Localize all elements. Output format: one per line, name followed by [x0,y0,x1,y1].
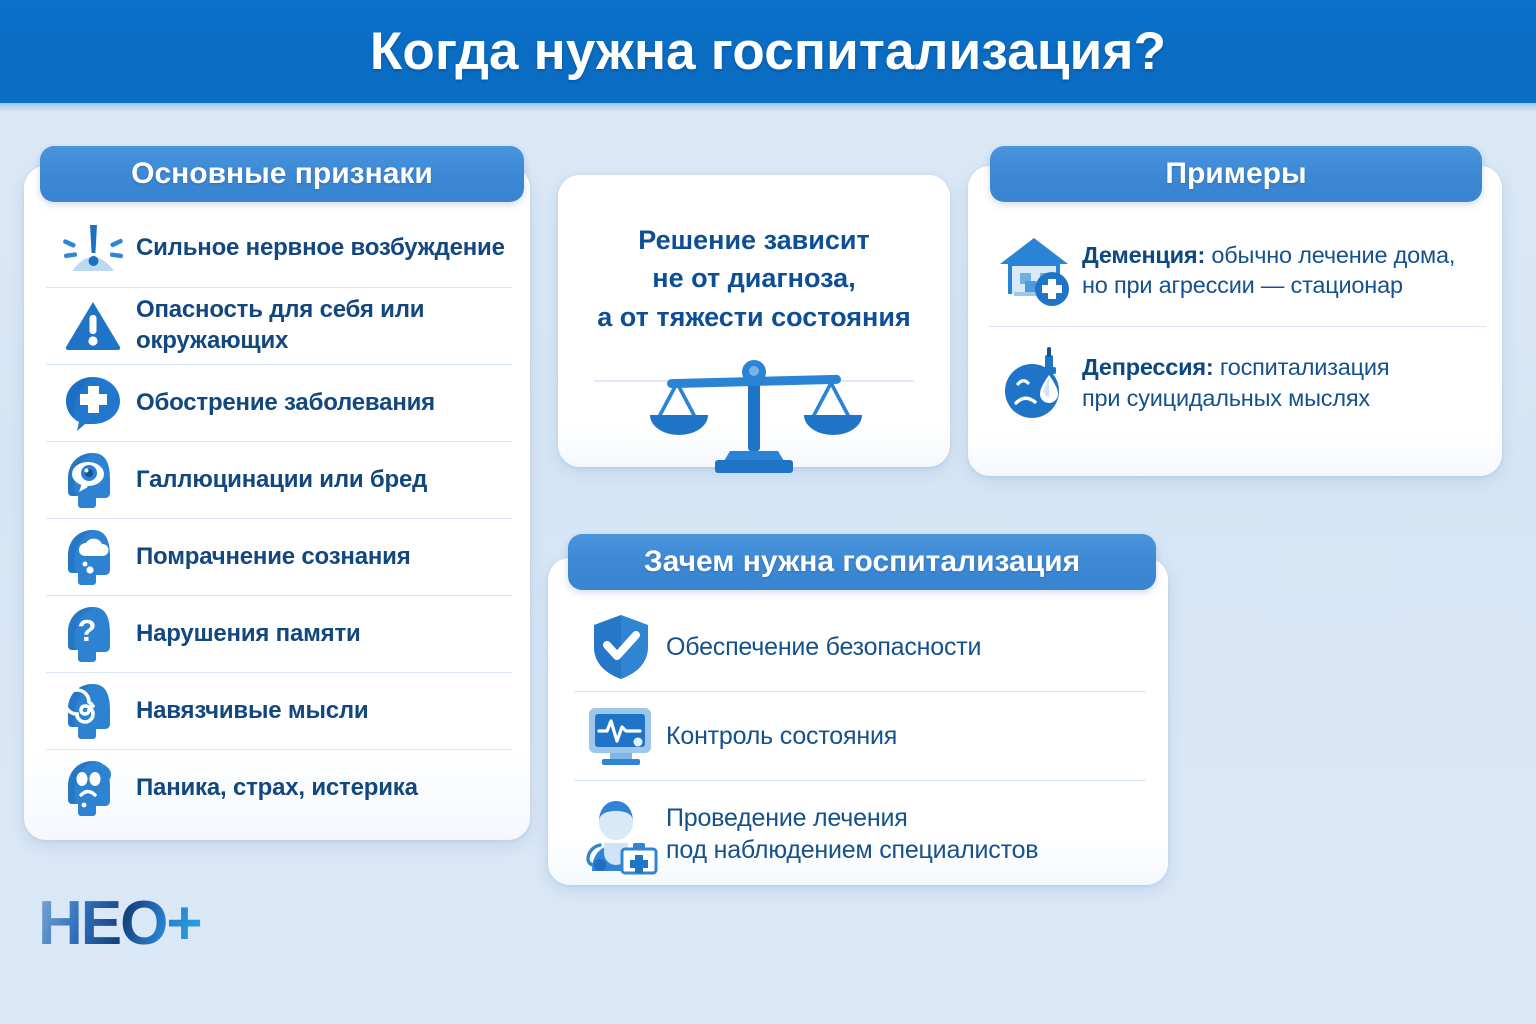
list-item[interactable]: Деменция: обычно лечение дома, но при аг… [988,214,1486,326]
svg-text:?: ? [78,613,97,648]
list-item[interactable]: Проведение лечения под наблюдением специ… [574,780,1146,886]
signs-panel-header: Основные признаки [40,146,524,202]
brand-logo: НЕО+ [38,893,201,955]
list-item-label: Галлюцинации или бред [136,465,427,496]
head-question-icon: ? [50,603,136,665]
balance-scales-icon [558,351,950,477]
warning-triangle-icon [50,299,136,353]
principle-line-1: Решение зависит [582,221,926,259]
list-item[interactable]: Депрессия: госпитализация при суицидальн… [988,326,1486,438]
why-panel-header: Зачем нужна госпитализация [568,534,1156,590]
signs-panel-title: Основные признаки [131,157,433,191]
list-item-label: Обострение заболевания [136,388,435,419]
list-item[interactable]: Контроль состояния [574,691,1146,780]
principle-line-3: а от тяжести состояния [582,298,926,336]
example-term: Деменция: [1082,242,1205,268]
examples-panel: Примеры Деменция: обычно лечение дома, н… [968,166,1502,476]
house-medical-icon [990,232,1082,308]
signs-panel: Основные признаки Сильное нервное возбуж… [24,166,530,840]
list-item-label: Обеспечение безопасности [666,631,981,663]
list-item[interactable]: ? Нарушения памяти [46,595,512,672]
list-item-label: Паника, страх, истерика [136,773,418,804]
why-panel-title: Зачем нужна госпитализация [644,545,1080,579]
list-item[interactable]: Навязчивые мысли [46,672,512,749]
head-eye-icon [50,449,136,511]
example-text-1: обычно лечение дома, [1205,242,1455,268]
exclamation-burst-icon [50,221,136,277]
list-item[interactable]: Помрачнение сознания [46,518,512,595]
examples-panel-header: Примеры [990,146,1482,202]
medical-cross-bubble-icon [50,374,136,432]
why-panel: Зачем нужна госпитализация Обеспечение б… [548,558,1168,885]
sad-face-drop-icon [990,345,1082,421]
heart-monitor-icon [576,704,666,768]
why-text-line-1: Проведение лечения [666,802,1038,834]
list-item-label: Сильное нервное возбуждение [136,233,505,264]
list-item[interactable]: Опасность для себя или окружающих [46,287,512,364]
list-item-label: Деменция: обычно лечение дома, но при аг… [1082,240,1455,300]
signs-list: Сильное нервное возбуждение Опасность дл… [46,210,512,826]
example-term: Депрессия: [1082,354,1214,380]
example-text-2: но при агрессии — стационар [1082,270,1455,300]
list-item-label: Опасность для себя или окружающих [136,295,512,356]
list-item-label: Помрачнение сознания [136,542,411,573]
list-item-label: Нарушения памяти [136,619,361,650]
examples-panel-title: Примеры [1165,157,1306,191]
examples-list: Деменция: обычно лечение дома, но при аг… [988,214,1486,438]
list-item[interactable]: Паника, страх, истерика [46,749,512,826]
shield-check-icon [576,612,666,682]
page-title: Когда нужна госпитализация? [370,21,1166,82]
head-panic-face-icon [50,757,136,819]
example-text-2: при суицидальных мыслях [1082,383,1389,413]
list-item-label: Проведение лечения под наблюдением специ… [666,802,1038,866]
head-cloud-icon [50,526,136,588]
principle-text: Решение зависит не от диагноза, а от тяж… [582,221,926,336]
principle-card: Решение зависит не от диагноза, а от тяж… [558,175,950,467]
list-item[interactable]: Обеспечение безопасности [574,602,1146,691]
list-item-label: Контроль состояния [666,720,897,752]
list-item-label: Депрессия: госпитализация при суицидальн… [1082,352,1389,412]
doctor-kit-icon [576,793,666,875]
list-item-label: Навязчивые мысли [136,696,369,727]
page-header: Когда нужна госпитализация? [0,0,1536,103]
head-spiral-icon [50,680,136,742]
list-item[interactable]: Галлюцинации или бред [46,441,512,518]
header-shadow [0,103,1536,112]
list-item[interactable]: Обострение заболевания [46,364,512,441]
why-list: Обеспечение безопасности Контроль состоя… [574,602,1146,886]
list-item[interactable]: Сильное нервное возбуждение [46,210,512,287]
why-text-line-2: под наблюдением специалистов [666,834,1038,866]
example-text-1: госпитализация [1214,354,1390,380]
principle-line-2: не от диагноза, [582,259,926,297]
